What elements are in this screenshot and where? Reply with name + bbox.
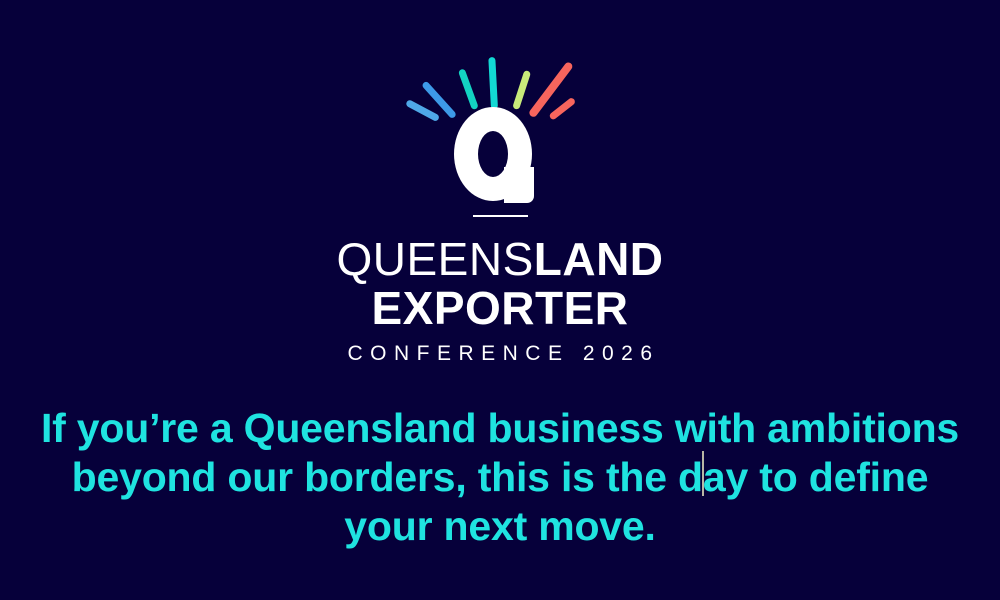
logo-block: QUEENSLAND EXPORTER CONFERENCE 2026 bbox=[0, 0, 1000, 370]
tagline-line-2: beyond our borders, this is the day to d… bbox=[0, 453, 1000, 502]
text-cursor-caret bbox=[702, 451, 704, 496]
ray-light-blue-outer-icon bbox=[405, 99, 440, 122]
presentation-slide: QUEENSLAND EXPORTER CONFERENCE 2026 If y… bbox=[0, 0, 1000, 600]
tagline-text-block[interactable]: If you’re a Queensland business with amb… bbox=[0, 404, 1000, 551]
tagline-line-1: If you’re a Queensland business with amb… bbox=[0, 404, 1000, 453]
wordmark-queens-text: QUEENS bbox=[336, 233, 533, 285]
wordmark-line-exporter: EXPORTER bbox=[0, 285, 1000, 331]
logo-divider bbox=[473, 215, 528, 217]
wordmark-line-conference-year: CONFERENCE 2026 bbox=[0, 343, 1000, 364]
ray-lime-icon bbox=[512, 70, 531, 110]
tagline-line-3: your next move. bbox=[0, 502, 1000, 551]
logo-wordmark: QUEENSLAND EXPORTER CONFERENCE 2026 bbox=[0, 236, 1000, 364]
wordmark-line-queensland: QUEENSLAND bbox=[0, 236, 1000, 282]
ray-cyan-icon bbox=[488, 57, 498, 109]
queensland-exporter-logo-mark bbox=[430, 45, 570, 200]
ray-teal-icon bbox=[457, 68, 478, 110]
wordmark-land-text: LAND bbox=[534, 233, 664, 285]
q-tail bbox=[504, 167, 534, 203]
letter-q-icon bbox=[454, 107, 546, 201]
ray-red-short-icon bbox=[548, 97, 576, 121]
